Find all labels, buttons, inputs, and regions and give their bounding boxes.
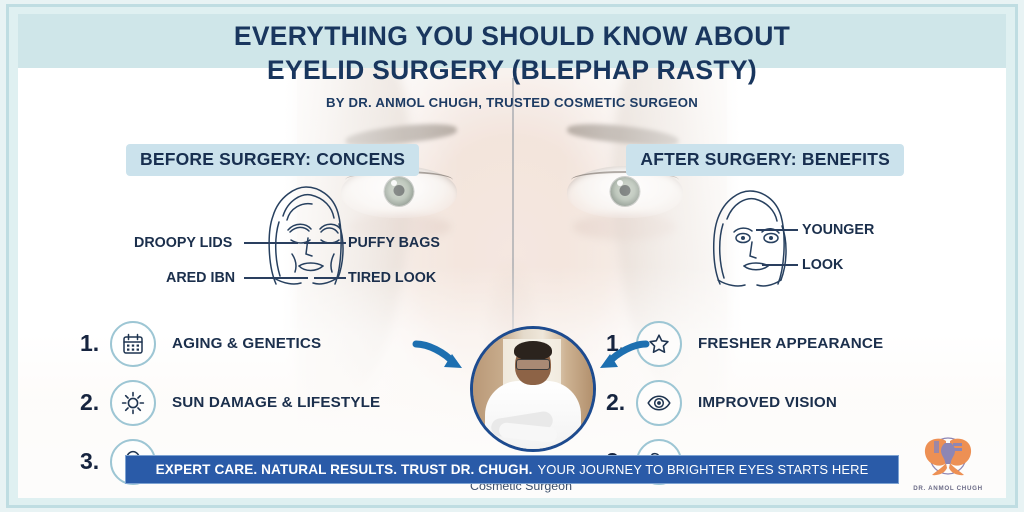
leader-line-ared [244, 277, 308, 279]
item-label: IMPROVED VISION [698, 394, 837, 411]
calendar-icon [110, 321, 156, 367]
leader-line-droopy [244, 242, 298, 244]
arrow-left-to-doctor [410, 336, 466, 389]
section-header-before: BEFORE SURGERY: CONCENS [126, 144, 419, 176]
brand-logo: DR. ANMOL CHUGH [900, 435, 996, 492]
callout-puffy-bags: PUFFY BAGS [348, 235, 440, 251]
item-number: 2. [80, 389, 110, 416]
sun-icon [110, 380, 156, 426]
callout-ared-ibn: ARED IBN [166, 270, 235, 286]
title-line-2: EYELID SURGERY (BLEPHAP RASTY) [18, 54, 1006, 88]
leader-line-look [762, 264, 798, 266]
item-label: SUN DAMAGE & LIFESTYLE [172, 394, 380, 411]
callout-tired-look: TIRED LOOK [348, 270, 436, 286]
logo-name: DR. ANMOL CHUGH [900, 485, 996, 492]
cta-light-text: YOUR JOURNEY TO BRIGHTER EYES STARTS HER… [538, 462, 869, 477]
section-header-after: AFTER SURGERY: BENEFITS [626, 144, 904, 176]
list-item: 1. FRESHER APPEARANCE [606, 314, 956, 373]
item-number: 1. [80, 330, 110, 357]
callout-younger: YOUNGER [802, 222, 874, 238]
item-number: 2. [606, 389, 636, 416]
leader-line-younger [756, 229, 798, 231]
callout-look: LOOK [802, 257, 843, 273]
subtitle: BY DR. ANMOL CHUGH, TRUSTED COSMETIC SUR… [18, 95, 1006, 110]
item-label: AGING & GENETICS [172, 335, 321, 352]
list-item: 1. AGING & GENETICS [80, 314, 410, 373]
arrow-right-to-doctor [596, 336, 652, 389]
doctor-photo [470, 326, 596, 452]
inner-canvas: EVERYTHING YOU SHOULD KNOW ABOUT EYELID … [18, 14, 1006, 498]
cta-bold-text: EXPERT CARE. NATURAL RESULTS. TRUST DR. … [156, 462, 533, 477]
infographic-poster: EVERYTHING YOU SHOULD KNOW ABOUT EYELID … [0, 0, 1024, 512]
list-item: 2. IMPROVED VISION [606, 373, 956, 432]
butterfly-faces-logo [915, 435, 981, 479]
item-label: FRESHER APPEARANCE [698, 335, 883, 352]
cta-banner: EXPERT CARE. NATURAL RESULTS. TRUST DR. … [125, 455, 899, 484]
leader-line-tired [314, 277, 346, 279]
leader-line-puffy [304, 242, 346, 244]
title-block: EVERYTHING YOU SHOULD KNOW ABOUT EYELID … [18, 20, 1006, 110]
list-item: 2. SUN DAMAGE & LIFESTYLE [80, 373, 410, 432]
title-line-1: EVERYTHING YOU SHOULD KNOW ABOUT [18, 20, 1006, 54]
item-number: 3. [80, 448, 110, 475]
line-art-face-after [694, 186, 806, 295]
callout-droopy-lids: DROOPY LIDS [134, 235, 232, 251]
